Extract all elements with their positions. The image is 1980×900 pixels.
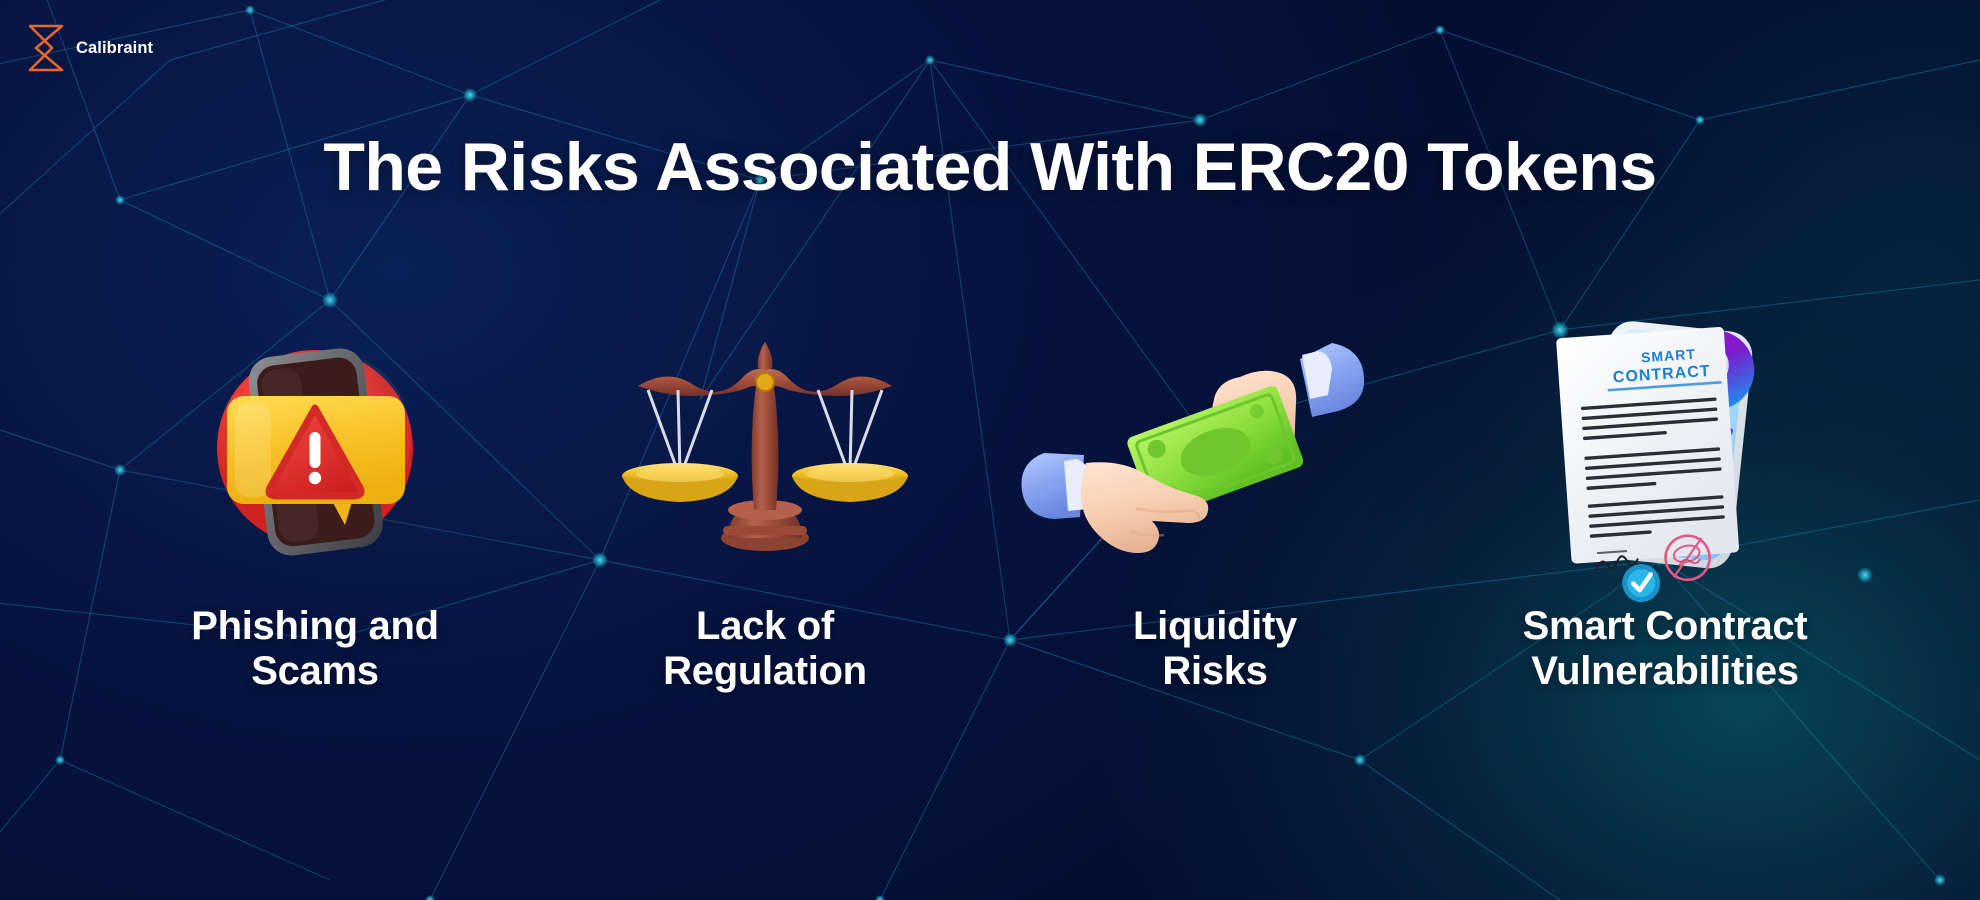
risk-label: Lack of Regulation: [663, 604, 867, 694]
smart-contract-document-key-icon: SMART CONTRACT: [1440, 300, 1890, 590]
phone-warning-alert-icon: [90, 300, 540, 590]
risk-card-liquidity-risks[interactable]: Liquidity Risks: [990, 300, 1440, 770]
page-title: The Risks Associated With ERC20 Tokens: [0, 128, 1980, 206]
brand-logo[interactable]: Calibraint: [26, 22, 153, 74]
calibraint-z-logo-icon: [26, 22, 66, 74]
balance-scales-icon: [540, 300, 990, 590]
risk-label: Liquidity Risks: [1133, 604, 1297, 694]
poster-canvas: Calibraint The Risks Associated With ERC…: [0, 0, 1980, 900]
risk-card-smart-contract-vulnerabilities[interactable]: SMART CONTRACT: [1440, 300, 1890, 770]
risk-card-phishing-and-scams[interactable]: Phishing and Scams: [90, 300, 540, 770]
verified-check-badge: [1621, 563, 1662, 604]
risk-card-lack-of-regulation[interactable]: Lack of Regulation: [540, 300, 990, 770]
risk-label: Phishing and Scams: [191, 604, 439, 694]
brand-name: Calibraint: [76, 39, 153, 58]
risk-label: Smart Contract Vulnerabilities: [1523, 604, 1808, 694]
risk-cards-row: Phishing and Scams: [0, 300, 1980, 770]
hands-exchanging-money-icon: [990, 300, 1440, 590]
